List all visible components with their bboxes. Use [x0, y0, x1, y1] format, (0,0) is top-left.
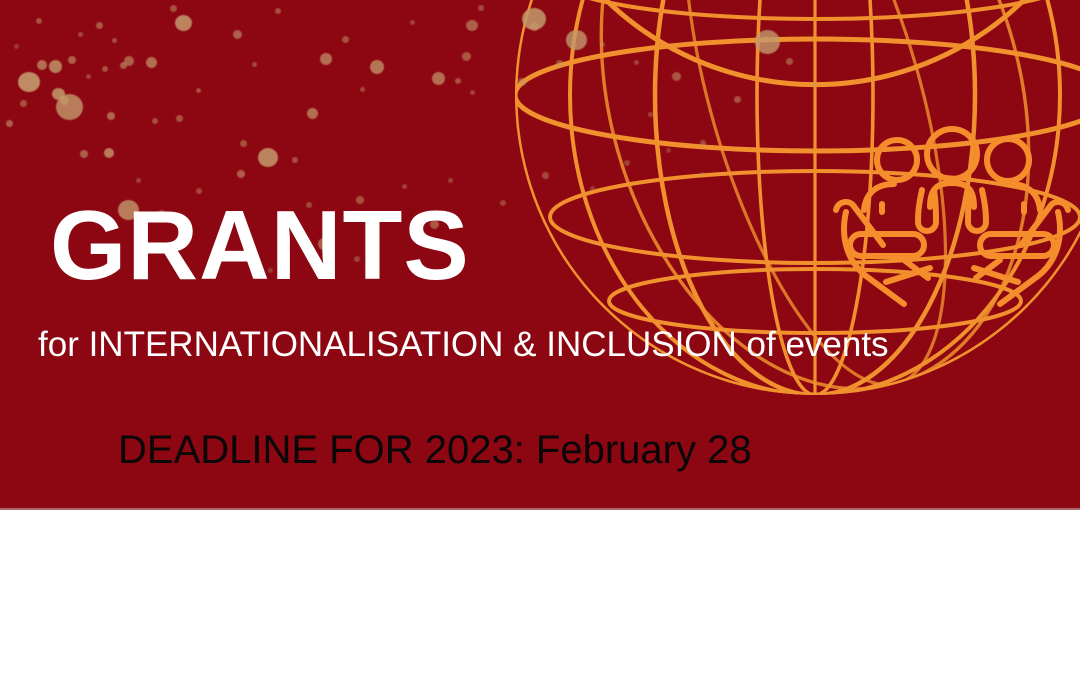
- hero-divider: [0, 508, 1080, 510]
- page-title: GRANTS: [50, 196, 470, 294]
- hero-banner: GRANTS for INTERNATIONALISATION & INCLUS…: [0, 0, 1080, 510]
- page-subtitle: for INTERNATIONALISATION & INCLUSION of …: [38, 327, 889, 362]
- logo-footer: EUROPEAN CHORAL ASSOCIATION: [0, 511, 1080, 675]
- hands-holding-people-icon: [826, 112, 1078, 322]
- deadline-text: DEADLINE FOR 2023: February 28: [118, 430, 752, 470]
- poster-canvas: GRANTS for INTERNATIONALISATION & INCLUS…: [0, 0, 1080, 675]
